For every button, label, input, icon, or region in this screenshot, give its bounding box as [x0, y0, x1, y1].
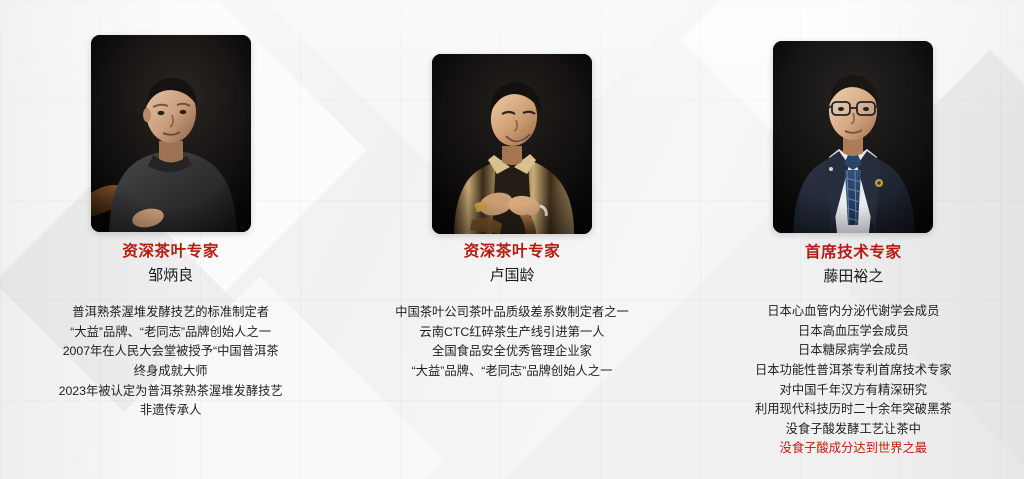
- bio-line: 2023年被认定为普洱茶熟茶渥堆发酵技艺: [59, 382, 283, 402]
- bio-line: 中国茶叶公司茶叶品质级差系数制定者之一: [395, 303, 629, 323]
- bio-line: 全国食品安全优秀管理企业家: [395, 342, 629, 362]
- bio-line: 日本高血压学会成员: [755, 322, 952, 342]
- bio-line: 2007年在人民大会堂被授予“中国普洱茶: [59, 342, 283, 362]
- bio-line-highlighted: 没食子酸成分达到世界之最: [755, 439, 952, 459]
- bio-line: 非遗传承人: [59, 401, 283, 421]
- bio-line: 日本功能性普洱茶专利首席技术专家: [755, 361, 952, 381]
- expert-name-2: 卢国龄: [489, 267, 534, 284]
- expert-photo-1: [91, 35, 251, 232]
- expert-role-3: 首席技术专家: [805, 244, 902, 261]
- expert-card-2: 资深茶叶专家 卢国龄 中国茶叶公司茶叶品质级差系数制定者之一 云南CTC红碎茶生…: [341, 0, 682, 479]
- expert-role-2: 资深茶叶专家: [464, 243, 561, 260]
- bio-line: 日本糖尿病学会成员: [755, 341, 952, 361]
- expert-photo-2: [432, 54, 592, 234]
- expert-columns: 资深茶叶专家 邹炳良 普洱熟茶渥堆发酵技艺的标准制定者 “大益”品牌、“老同志”…: [0, 0, 1024, 479]
- bio-line: 对中国千年汉方有精深研究: [755, 381, 952, 401]
- bio-line: 利用现代科技历时二十余年突破黑茶: [755, 400, 952, 420]
- bio-line: “大益”品牌、“老同志”品牌创始人之一: [59, 323, 283, 343]
- expert-photo-3: [773, 41, 933, 233]
- expert-name-1: 邹炳良: [148, 267, 193, 284]
- expert-bio-3: 日本心血管内分泌代谢学会成员 日本高血压学会成员 日本糖尿病学会成员 日本功能性…: [755, 302, 952, 459]
- bio-line: 没食子酸发酵工艺让茶中: [755, 420, 952, 440]
- bio-line: 普洱熟茶渥堆发酵技艺的标准制定者: [59, 303, 283, 323]
- expert-role-1: 资深茶叶专家: [122, 243, 219, 260]
- expert-bio-1: 普洱熟茶渥堆发酵技艺的标准制定者 “大益”品牌、“老同志”品牌创始人之一 200…: [59, 303, 283, 421]
- expert-card-3: 首席技术专家 藤田裕之 日本心血管内分泌代谢学会成员 日本高血压学会成员 日本糖…: [683, 0, 1024, 479]
- expert-profiles-banner: 资深茶叶专家 邹炳良 普洱熟茶渥堆发酵技艺的标准制定者 “大益”品牌、“老同志”…: [0, 0, 1024, 479]
- bio-line: 云南CTC红碎茶生产线引进第一人: [395, 323, 629, 343]
- expert-card-1: 资深茶叶专家 邹炳良 普洱熟茶渥堆发酵技艺的标准制定者 “大益”品牌、“老同志”…: [0, 0, 341, 479]
- bio-line: 终身成就大师: [59, 362, 283, 382]
- expert-bio-2: 中国茶叶公司茶叶品质级差系数制定者之一 云南CTC红碎茶生产线引进第一人 全国食…: [395, 303, 629, 381]
- bio-line: “大益”品牌、“老同志”品牌创始人之一: [395, 362, 629, 382]
- bio-line: 日本心血管内分泌代谢学会成员: [755, 302, 952, 322]
- expert-name-3: 藤田裕之: [823, 268, 883, 285]
